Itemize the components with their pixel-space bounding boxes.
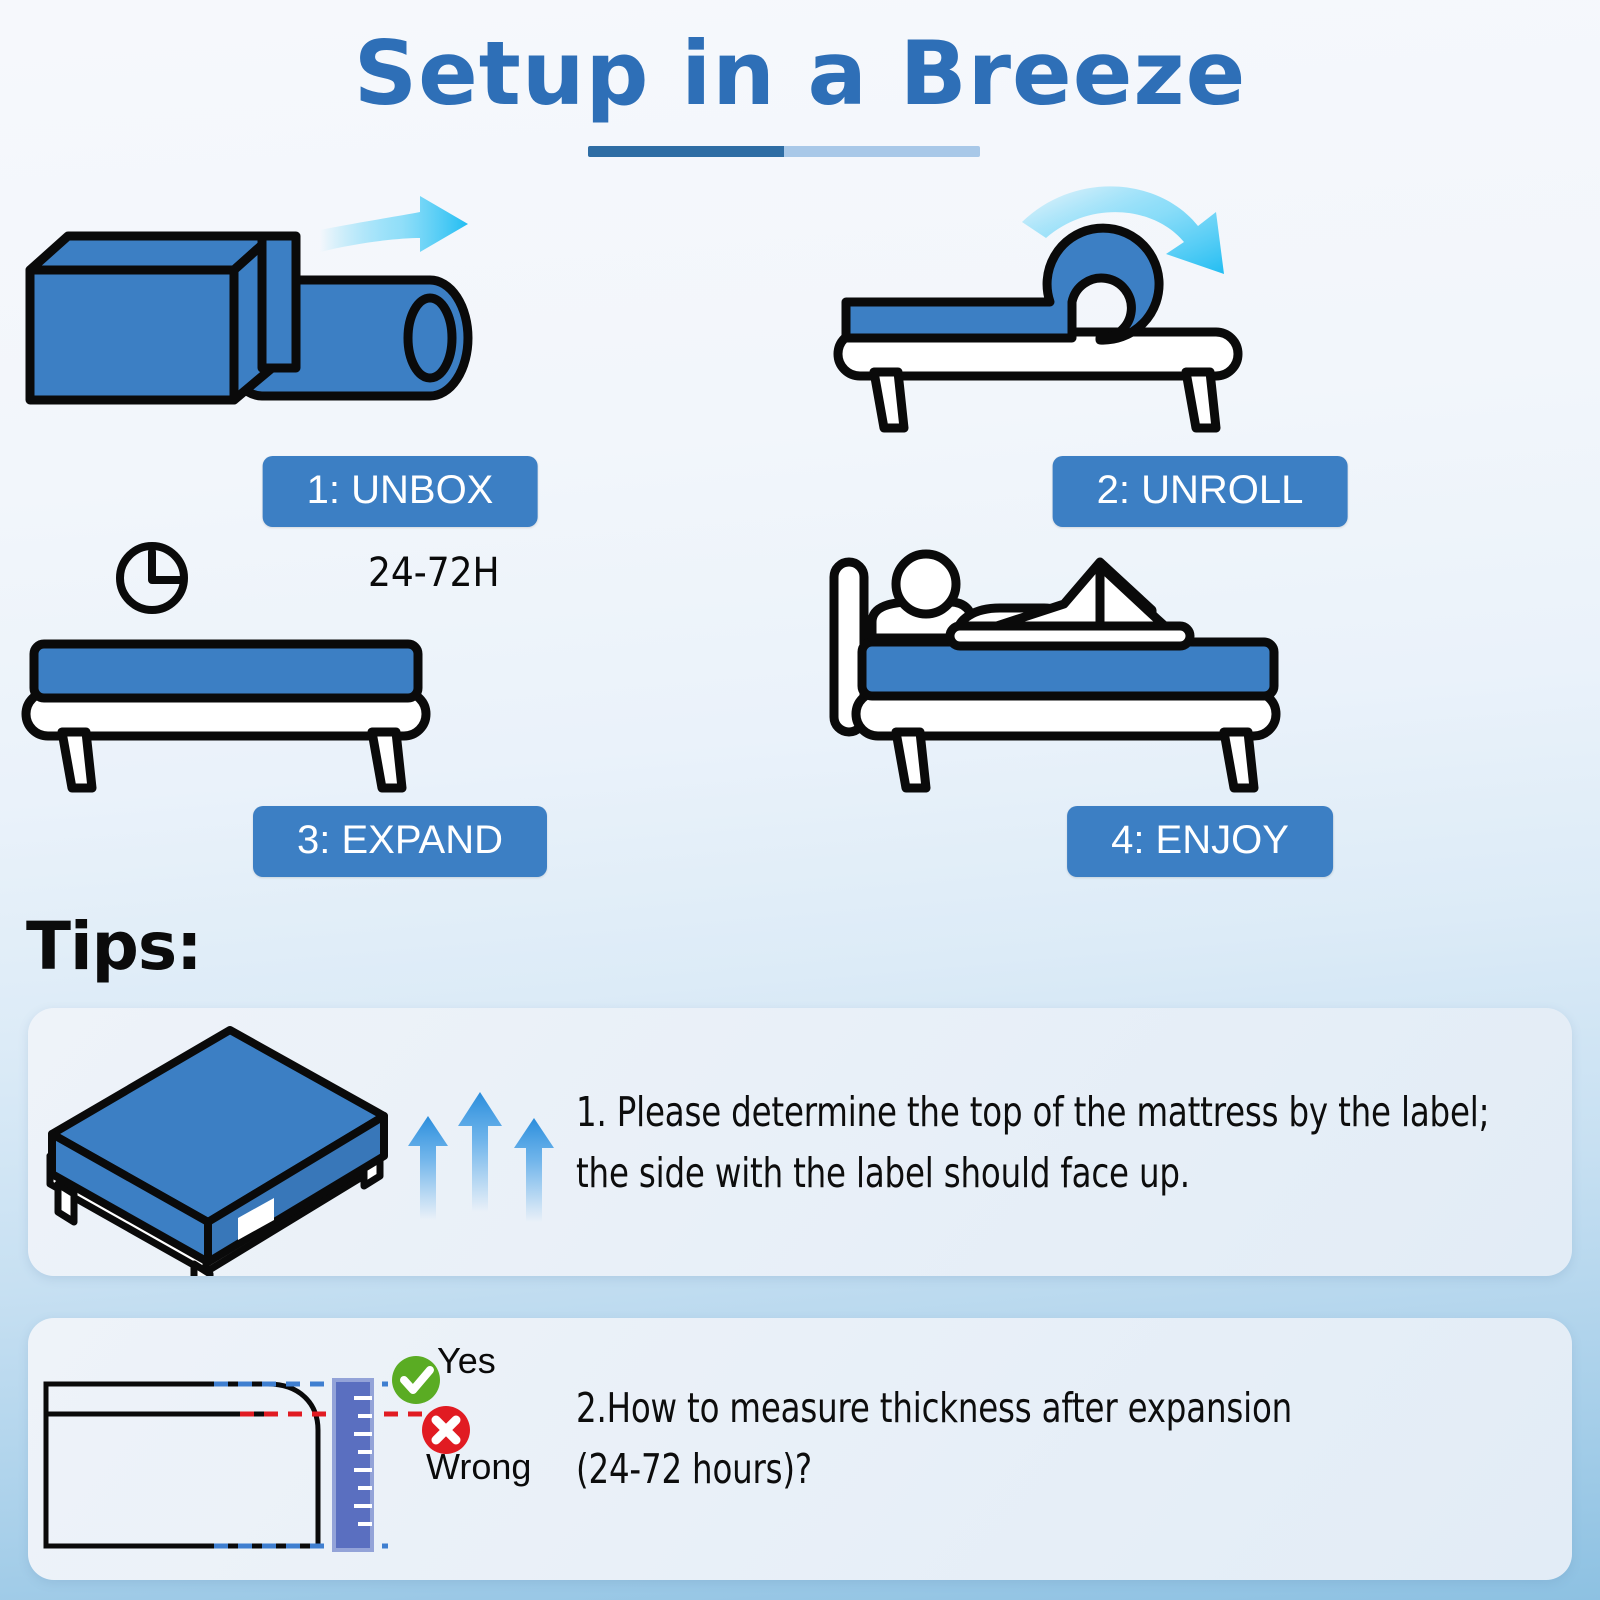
steps-grid: 1: UNBOX <box>0 172 1600 882</box>
tip-card-label-orientation: 1. Please determine the top of the mattr… <box>28 1008 1572 1276</box>
infographic-page: Setup in a Breeze <box>0 0 1600 1600</box>
isometric-mattress-with-label-icon <box>28 1008 568 1276</box>
step-label-expand[interactable]: 3: EXPAND <box>253 806 547 877</box>
tip1-text: 1. Please determine the top of the mattr… <box>576 1082 1572 1203</box>
mattress-unrolling-on-bed-icon <box>800 172 1600 447</box>
page-title: Setup in a Breeze <box>0 22 1600 125</box>
tip2-text: 2.How to measure thickness after expansi… <box>576 1378 1544 1499</box>
title-underline-dark <box>588 146 784 157</box>
box-with-rolled-mattress-icon <box>0 172 800 447</box>
expand-duration-label: 24-72H <box>368 550 500 596</box>
tip-card-measure-thickness: Yes Wrong 2.How to measure thickness aft… <box>28 1318 1572 1580</box>
tip1-line1: 1. Please determine the top of the mattr… <box>576 1082 1572 1143</box>
title-underline-light <box>784 146 980 157</box>
tips-heading: Tips: <box>26 908 202 985</box>
wrong-label: Wrong <box>426 1446 531 1488</box>
step-unroll: 2: UNROLL <box>800 172 1600 527</box>
tip2-line2: (24-72 hours)? <box>576 1439 1544 1500</box>
yes-label: Yes <box>437 1340 496 1382</box>
tip2-line1: 2.How to measure thickness after expansi… <box>576 1378 1544 1439</box>
step-label-unbox[interactable]: 1: UNBOX <box>263 456 538 527</box>
person-sleeping-on-bed-icon <box>800 522 1600 797</box>
step-unbox: 1: UNBOX <box>0 172 800 527</box>
title-underline <box>588 146 980 157</box>
step-label-unroll[interactable]: 2: UNROLL <box>1053 456 1348 527</box>
tip1-line2: the side with the label should face up. <box>576 1143 1572 1204</box>
step-expand: 24-72H 3: EXPAND <box>0 522 800 877</box>
step-enjoy: 4: ENJOY <box>800 522 1600 877</box>
step-label-enjoy[interactable]: 4: ENJOY <box>1067 806 1333 877</box>
